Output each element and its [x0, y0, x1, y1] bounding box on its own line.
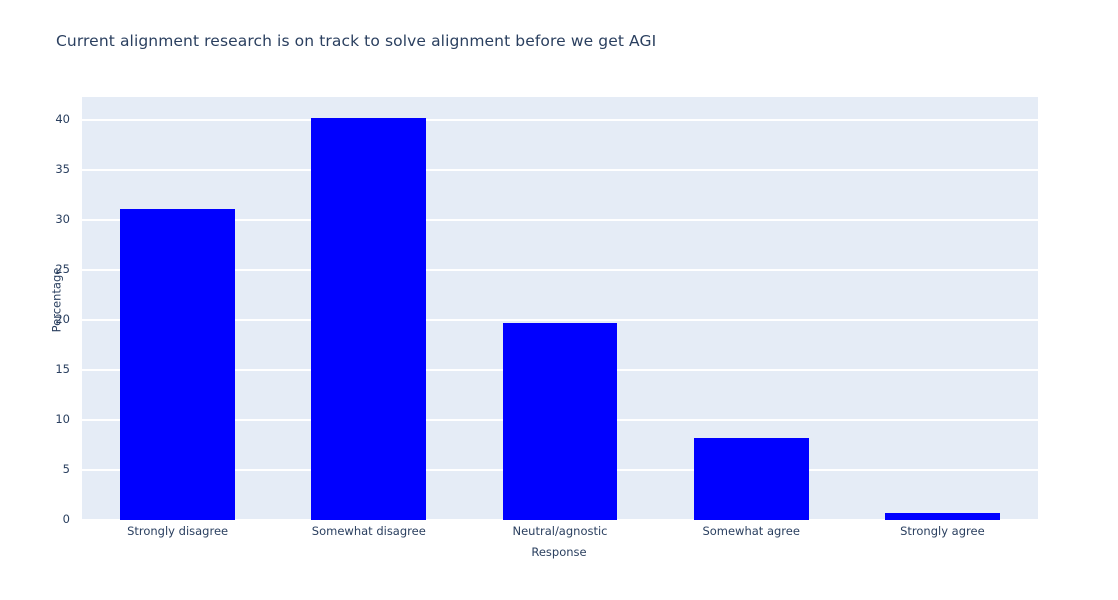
y-tick-label: 25 [46, 262, 70, 276]
y-tick-label: 40 [46, 112, 70, 126]
y-tick-mark [77, 119, 82, 120]
x-tick-label: Neutral/agnostic [512, 524, 607, 538]
bar[interactable] [694, 438, 809, 520]
bar[interactable] [503, 323, 618, 520]
plot-area [82, 97, 1038, 520]
y-tick-label: 5 [46, 462, 70, 476]
x-tick-label: Strongly agree [900, 524, 985, 538]
bar[interactable] [311, 118, 426, 520]
y-tick-label: 30 [46, 212, 70, 226]
y-tick-mark [77, 219, 82, 220]
y-tick-mark [77, 419, 82, 420]
y-tick-label: 15 [46, 362, 70, 376]
x-tick-label: Somewhat disagree [312, 524, 426, 538]
chart-title: Current alignment research is on track t… [56, 32, 656, 50]
y-tick-mark [77, 469, 82, 470]
bar[interactable] [120, 209, 235, 520]
y-tick-label: 0 [46, 512, 70, 526]
bars-group [82, 97, 1038, 520]
x-tick-label: Strongly disagree [127, 524, 228, 538]
y-tick-mark [77, 369, 82, 370]
y-tick-mark [77, 319, 82, 320]
y-tick-mark [77, 519, 82, 520]
y-tick-mark [77, 169, 82, 170]
bar-chart-figure: Current alignment research is on track t… [0, 0, 1118, 600]
y-tick-label: 35 [46, 162, 70, 176]
bar[interactable] [885, 513, 1000, 520]
x-axis-title: Response [0, 545, 1118, 559]
y-tick-label: 20 [46, 312, 70, 326]
y-tick-label: 10 [46, 412, 70, 426]
y-tick-mark [77, 269, 82, 270]
x-tick-label: Somewhat agree [702, 524, 800, 538]
